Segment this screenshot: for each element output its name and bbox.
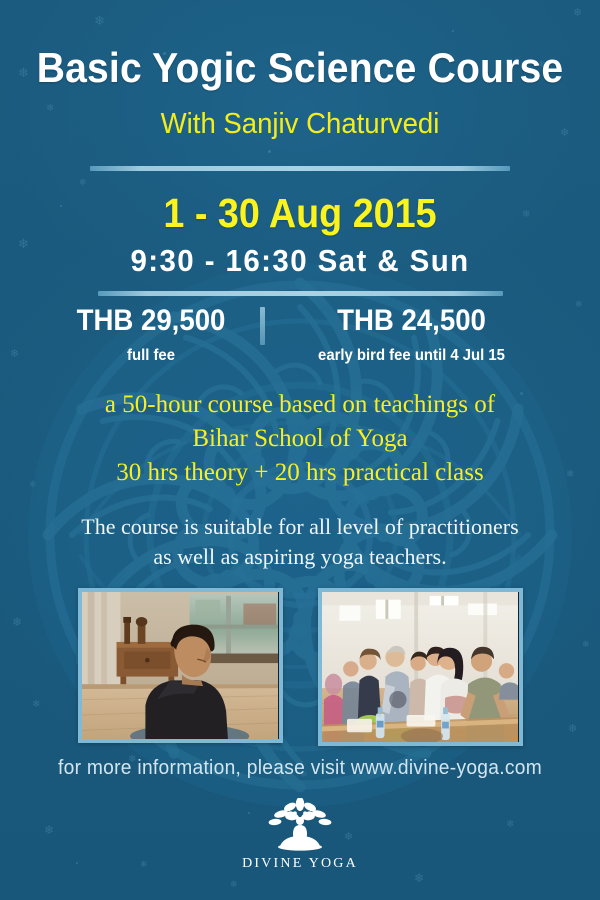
early-bird-fee-amount: THB 24,500 (290, 305, 534, 337)
early-bird-fee-block: THB 24,500 early bird fee until 4 Jul 15 (265, 305, 558, 365)
divine-yoga-logo: DIVINE YOGA (225, 798, 375, 872)
classroom-students-photo (318, 588, 523, 746)
fee-vertical-divider (260, 307, 265, 345)
footer-info[interactable]: for more information, please visit www.d… (12, 757, 588, 780)
logo-text: DIVINE YOGA (225, 856, 375, 872)
description-line-2: as well as aspiring yoga teachers. (0, 542, 600, 572)
yoga-tree-icon (264, 798, 336, 854)
highlight-line-2: Bihar School of Yoga (0, 422, 600, 456)
poster-root: ❄ ❄ ❄ ❄ ❄ ❄ ❄ ❄ ❄ ❄ ❄ ❄ ❄ ❄ ❄ ❄ ❄ ❄ ❄ ❄ … (0, 0, 600, 900)
divider-top (90, 166, 510, 171)
poster-content: Basic Yogic Science Course With Sanjiv C… (0, 0, 600, 900)
early-bird-fee-label: early bird fee until 4 Jul 15 (288, 347, 534, 365)
description-line-1: The course is suitable for all level of … (0, 512, 600, 542)
highlight-line-1: a 50-hour course based on teachings of (0, 388, 600, 422)
course-times: 9:30 - 16:30 Sat & Sun (15, 243, 585, 279)
course-dates: 1 - 30 Aug 2015 (24, 190, 576, 237)
full-fee-label: full fee (63, 347, 240, 365)
fees-row: THB 29,500 full fee THB 24,500 early bir… (0, 305, 600, 365)
page-title: Basic Yogic Science Course (21, 44, 579, 92)
divider-middle (98, 291, 503, 296)
instructor-meditating-photo (78, 588, 283, 743)
highlight-line-3: 30 hrs theory + 20 hrs practical class (0, 456, 600, 490)
photo-gallery (0, 588, 600, 748)
course-highlight: a 50-hour course based on teachings of B… (0, 388, 600, 490)
course-description: The course is suitable for all level of … (0, 512, 600, 573)
page-subtitle: With Sanjiv Chaturvedi (15, 108, 585, 141)
full-fee-amount: THB 29,500 (64, 305, 239, 337)
full-fee-block: THB 29,500 full fee (42, 305, 260, 365)
